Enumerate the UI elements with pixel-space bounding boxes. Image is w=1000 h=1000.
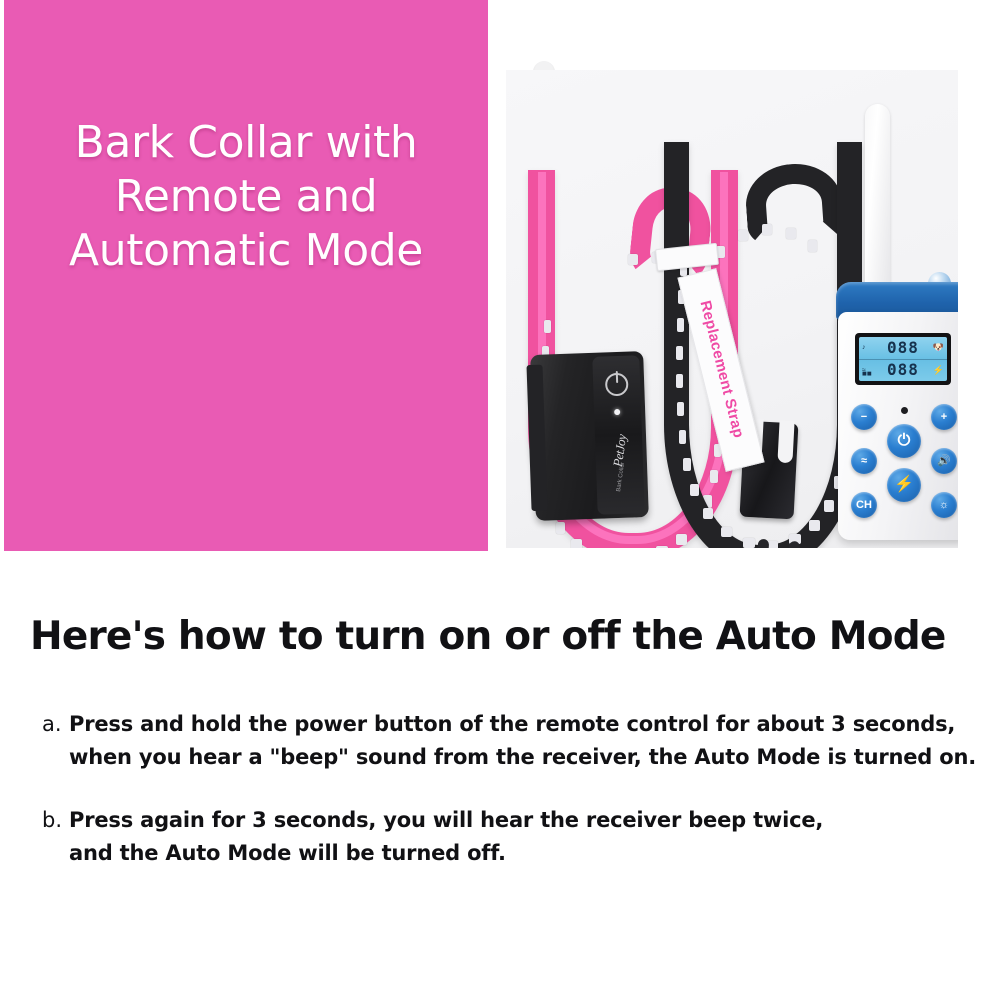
receiver-led-icon bbox=[614, 409, 620, 415]
step-a-line-1: Press and hold the power button of the r… bbox=[69, 708, 976, 741]
bark-icon: 🐶 bbox=[933, 343, 944, 352]
step-b-line-1: Press again for 3 seconds, you will hear… bbox=[69, 804, 972, 837]
light-button[interactable]: ☼ bbox=[931, 492, 957, 518]
lcd-digits-top: 088 bbox=[887, 340, 919, 356]
step-b-text: Press again for 3 seconds, you will hear… bbox=[69, 804, 972, 870]
instruction-step-b: b. Press again for 3 seconds, you will h… bbox=[42, 804, 972, 870]
remote-lcd-screen: ♪ 088 🐶 ≈ 088 ⚡ ■■ bbox=[859, 337, 947, 381]
remote-lcd-bezel: ♪ 088 🐶 ≈ 088 ⚡ ■■ bbox=[855, 333, 951, 385]
hero-title-line-2: Remote and bbox=[4, 170, 488, 224]
hero-pink-panel: Bark Collar with Remote and Automatic Mo… bbox=[4, 0, 488, 551]
power-button[interactable]: ⏻ bbox=[887, 424, 921, 458]
product-photo: PetJoy Bark Collar bbox=[506, 70, 958, 548]
plus-button[interactable]: + bbox=[931, 404, 957, 430]
hero-title-line-1: Bark Collar with bbox=[4, 116, 488, 170]
vibration-button[interactable]: ≈ bbox=[851, 448, 877, 474]
remote-control: ♪ 088 🐶 ≈ 088 ⚡ ■■ − + ⏻ bbox=[836, 104, 958, 540]
receiver-face: PetJoy Bark Collar bbox=[592, 355, 644, 515]
collar-receiver-module: PetJoy Bark Collar bbox=[530, 351, 649, 521]
step-b-line-2: and the Auto Mode will be turned off. bbox=[69, 837, 972, 870]
minus-button[interactable]: − bbox=[851, 404, 877, 430]
battery-icon: ■■ bbox=[862, 370, 872, 378]
shock-button[interactable]: ⚡ bbox=[887, 468, 921, 502]
lcd-row-bottom: ≈ 088 ⚡ bbox=[859, 359, 947, 382]
hero-title: Bark Collar with Remote and Automatic Mo… bbox=[4, 116, 488, 278]
power-icon bbox=[605, 373, 629, 397]
remote-body: ♪ 088 🐶 ≈ 088 ⚡ ■■ − + ⏻ bbox=[838, 312, 958, 540]
shock-icon: ⚡ bbox=[933, 366, 944, 375]
sound-icon: ♪ bbox=[862, 344, 866, 351]
sound-button[interactable]: 🔊 bbox=[931, 448, 957, 474]
hero-title-line-3: Automatic Mode bbox=[4, 224, 488, 278]
remote-antenna bbox=[865, 104, 890, 300]
page-title: Here's how to turn on or off the Auto Mo… bbox=[30, 614, 970, 659]
microphone-icon bbox=[901, 407, 908, 414]
instructions-section: Here's how to turn on or off the Auto Mo… bbox=[0, 556, 1000, 1000]
step-a-text: Press and hold the power button of the r… bbox=[69, 708, 976, 774]
receiver-strap-band-left bbox=[526, 365, 547, 511]
channel-button[interactable]: CH bbox=[851, 492, 877, 518]
instruction-step-a: a. Press and hold the power button of th… bbox=[42, 708, 972, 774]
hero-banner: Bark Collar with Remote and Automatic Mo… bbox=[0, 0, 1000, 556]
lcd-row-top: ♪ 088 🐶 bbox=[859, 337, 947, 359]
step-a-line-2: when you hear a "beep" sound from the re… bbox=[69, 741, 976, 774]
step-a-marker: a. bbox=[42, 708, 69, 741]
lcd-digits-bottom: 088 bbox=[887, 362, 919, 378]
step-b-marker: b. bbox=[42, 804, 69, 837]
